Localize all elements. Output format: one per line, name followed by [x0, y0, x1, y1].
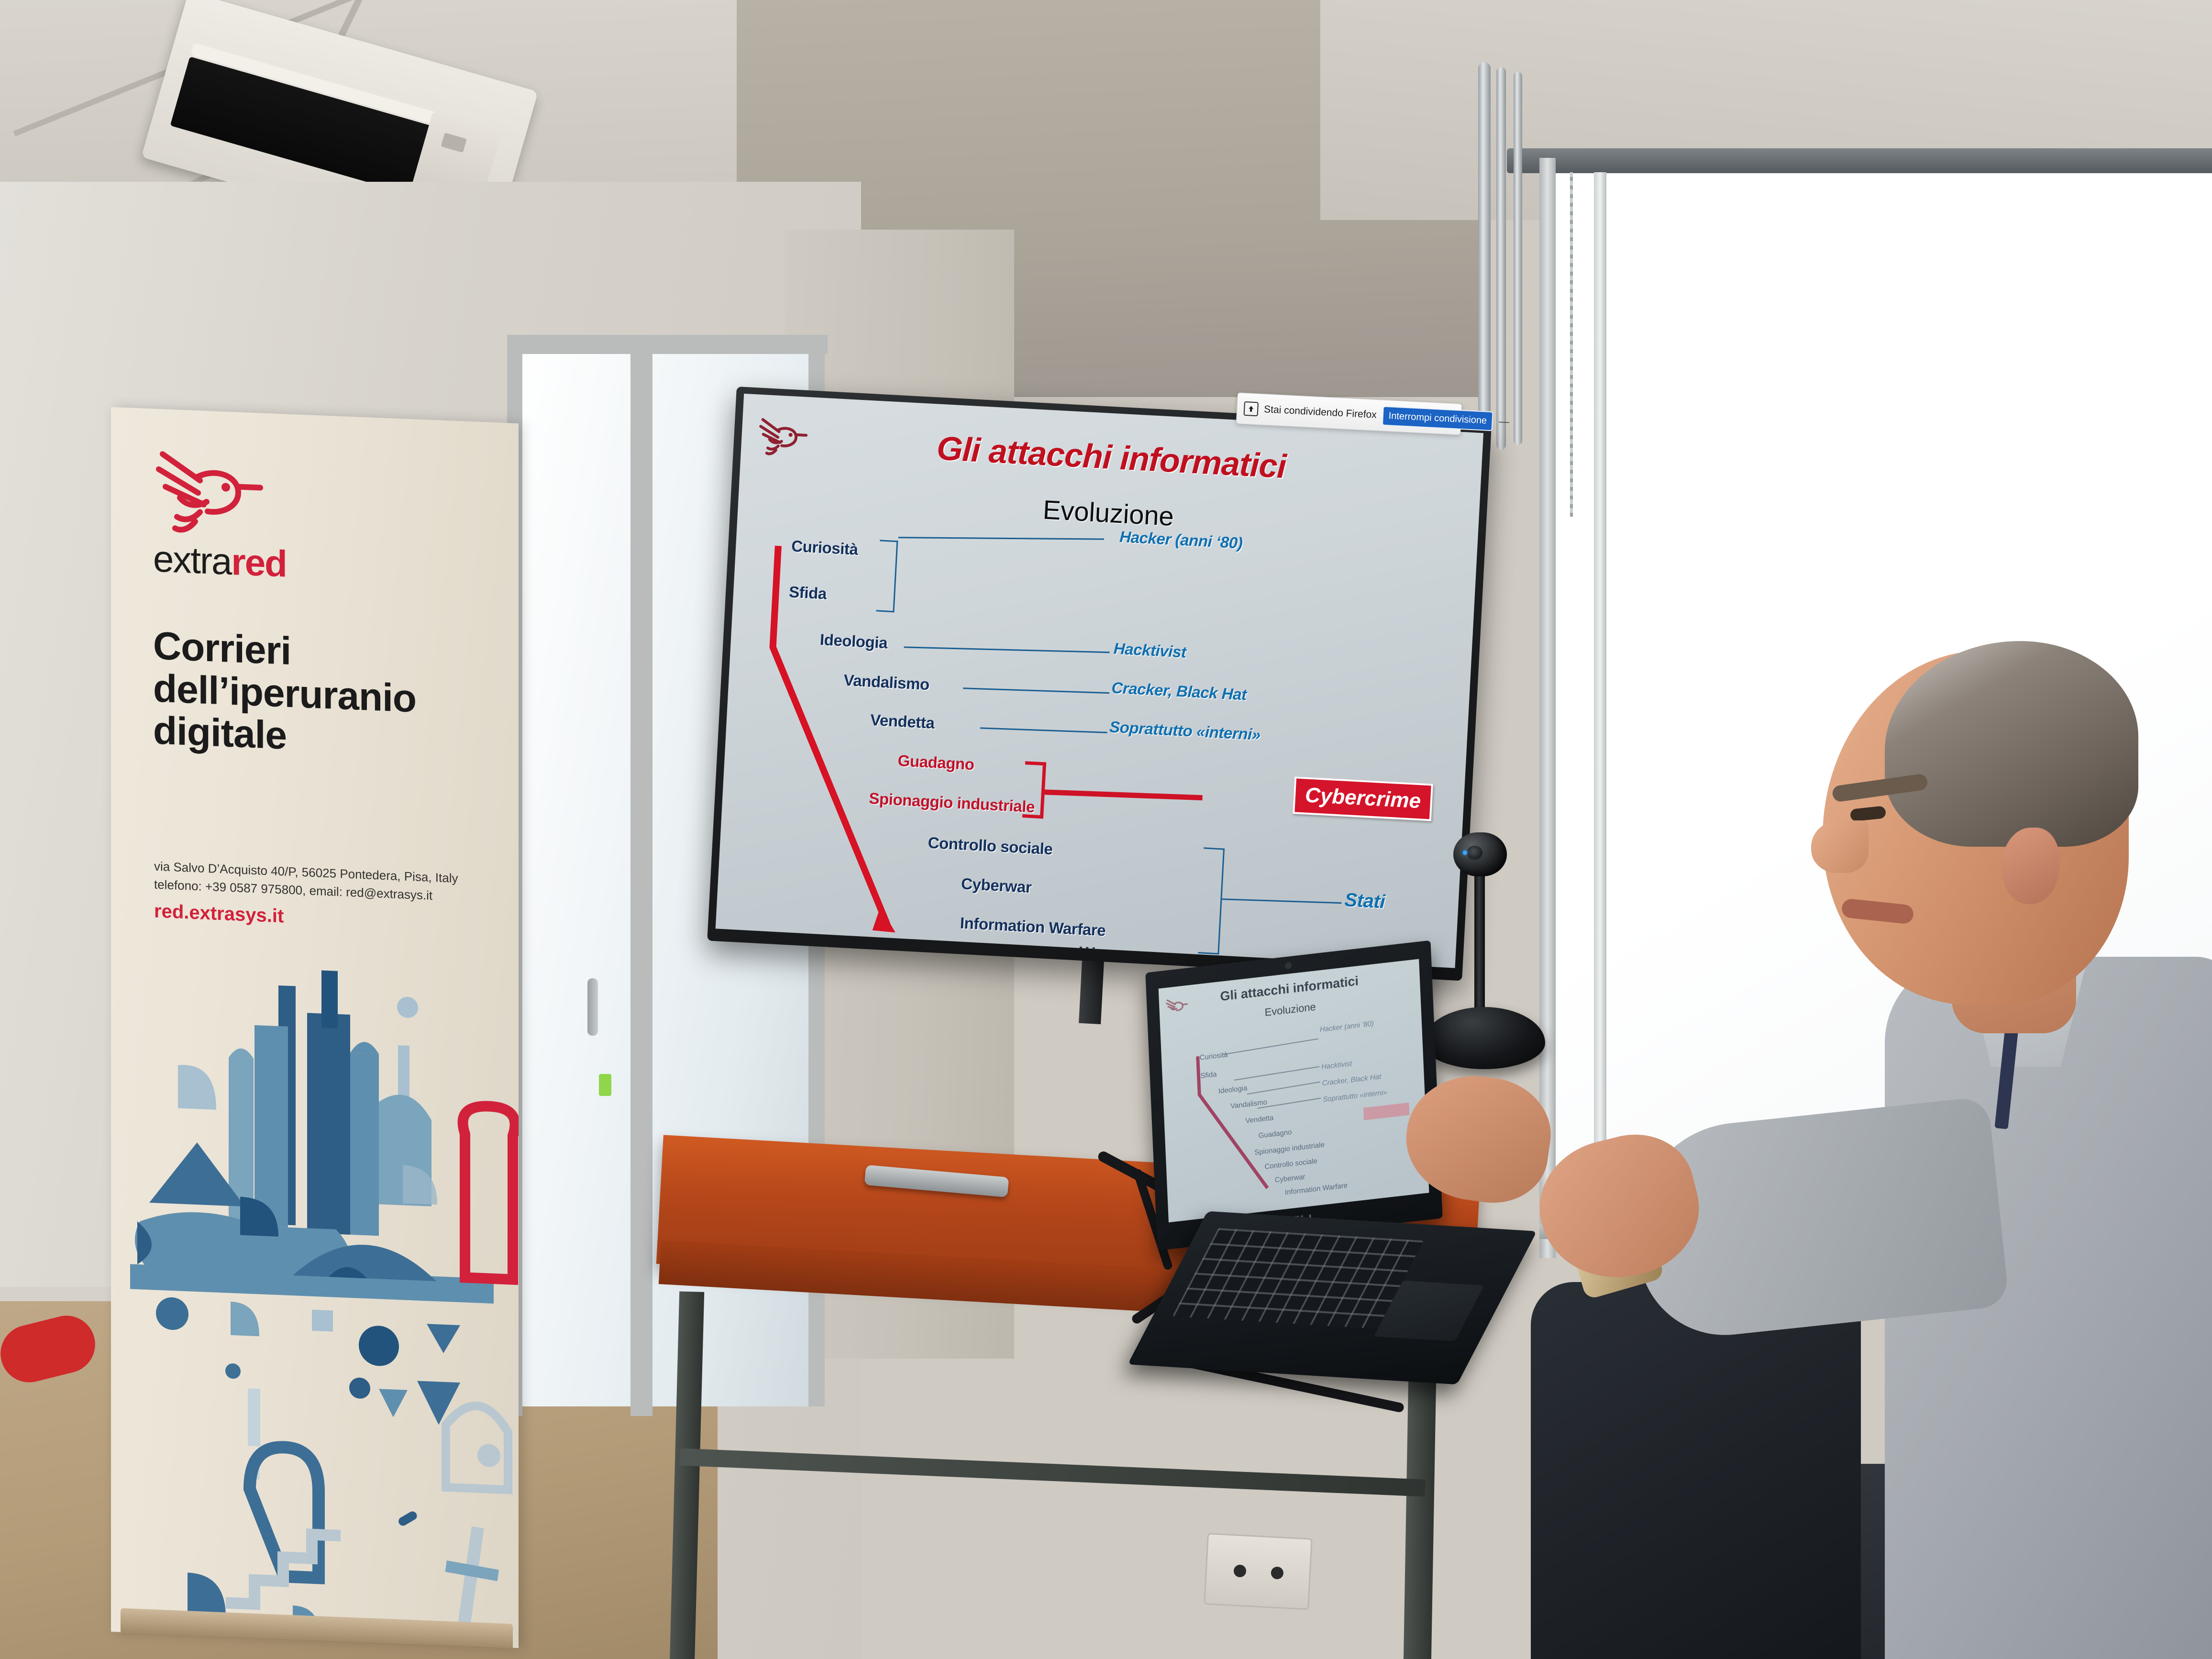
banner-url: red.extrasys.it — [154, 901, 284, 928]
svg-text:Vendetta: Vendetta — [1245, 1114, 1274, 1125]
slide-ellipsis: ... — [1078, 935, 1098, 954]
door-frame-mullion — [630, 335, 653, 1416]
wall-power-outlet — [1204, 1533, 1313, 1610]
sharing-status-text: Stai condividendo Firefox — [1264, 404, 1377, 421]
motivation-label: Cyberwar — [961, 874, 1032, 896]
motivation-label: Ideologia — [819, 630, 888, 652]
window-frame-inner — [1594, 172, 1606, 1253]
backpack — [1531, 1282, 1861, 1659]
actor-label: Stati — [1344, 889, 1385, 913]
svg-text:Soprattutto «interni»: Soprattutto «interni» — [1323, 1088, 1387, 1104]
seated-man — [1741, 622, 2212, 1659]
evolution-diagram: Curiosità Sfida Ideologia Vandalismo Ven… — [716, 513, 1477, 968]
window-frame — [1539, 158, 1556, 1258]
cybercrime-highlight-box: Cybercrime — [1293, 776, 1433, 821]
rollup-banner: extrared Corrieri dell’iperuranio digita… — [111, 407, 519, 1648]
laptop-webcam-icon — [1285, 962, 1292, 970]
banner-address: via Salvo D’Acquisto 40/P, 56025 Pontede… — [154, 858, 484, 907]
outlet-hole — [1271, 1566, 1283, 1579]
minimize-icon[interactable]: — — [1498, 415, 1509, 428]
door-handle[interactable] — [587, 978, 598, 1036]
wall-pipe — [1514, 72, 1522, 445]
svg-text:Ideologia: Ideologia — [1218, 1084, 1248, 1095]
blind-chain[interactable] — [1570, 172, 1573, 517]
webcam-led-indicator — [1463, 851, 1467, 855]
bracket-group-1 — [876, 540, 898, 612]
actor-label: Hacktivist — [1113, 640, 1187, 662]
svg-text:Guadagno: Guadagno — [1258, 1128, 1292, 1140]
bracket-group-cybercrime — [1022, 761, 1046, 818]
svg-text:Curiosità: Curiosità — [1199, 1051, 1228, 1062]
tv-screen: Gli attacchi informatici Evoluzione Curi… — [716, 394, 1483, 968]
wall-pipe — [1478, 62, 1491, 454]
motivation-label: Vendetta — [870, 711, 935, 732]
svg-text:Controllo sociale: Controllo sociale — [1264, 1157, 1317, 1171]
door-header — [507, 335, 828, 354]
window-blind-roller[interactable] — [1507, 148, 2212, 173]
svg-text:Sfida: Sfida — [1200, 1070, 1217, 1080]
nose — [1811, 820, 1869, 873]
tv-bezel: Gli attacchi informatici Evoluzione Curi… — [707, 387, 1491, 981]
presentation-slide: Gli attacchi informatici Evoluzione Curi… — [716, 394, 1483, 968]
stop-sharing-button[interactable]: Interrompi condivisione — [1382, 406, 1493, 431]
wall-pipe — [1496, 67, 1506, 450]
door-green-tag — [599, 1074, 611, 1096]
banner-illustration — [111, 933, 519, 1648]
laptop-slide-diagram: Curiosità Sfida Ideologia Vandalismo Ven… — [1159, 959, 1429, 1223]
svg-text:Cyberwar: Cyberwar — [1274, 1172, 1305, 1184]
webcam-lens-icon — [1467, 846, 1483, 860]
svg-text:Information Warfare: Information Warfare — [1285, 1182, 1348, 1197]
extrared-bird-logo — [154, 443, 264, 539]
wall-mounted-tv: Gli attacchi informatici Evoluzione Curi… — [707, 387, 1491, 981]
conference-speaker[interactable] — [1423, 1007, 1545, 1069]
banner-wordmark-prefix: extra — [153, 537, 231, 583]
svg-text:Hacker (anni '80): Hacker (anni '80) — [1320, 1019, 1374, 1034]
motivation-label: Curiosità — [791, 537, 858, 559]
outlet-hole — [1233, 1564, 1246, 1577]
banner-headline: Corrieri dell’iperuranio digitale — [153, 625, 488, 765]
webcam-stand-pole — [1474, 874, 1485, 1022]
laptop-screen: Gli attacchi informatici Evoluzione Curi… — [1159, 959, 1429, 1223]
laptop-lid: Gli attacchi informatici Evoluzione Curi… — [1145, 940, 1443, 1251]
banner-wordmark: extrared — [153, 537, 287, 586]
banner-wordmark-suffix: red — [231, 541, 286, 585]
screen-share-icon — [1244, 401, 1259, 416]
svg-text:Hacktivist: Hacktivist — [1321, 1060, 1352, 1071]
svg-text:Vandalismo: Vandalismo — [1230, 1098, 1267, 1110]
motivation-label: Sfida — [788, 583, 827, 603]
svg-text:Spionaggio industriale: Spionaggio industriale — [1254, 1140, 1325, 1157]
ear — [2002, 828, 2059, 904]
room-scene: extrared Corrieri dell’iperuranio digita… — [0, 0, 2212, 1659]
svg-text:Cracker, Black Hat: Cracker, Black Hat — [1322, 1073, 1382, 1087]
